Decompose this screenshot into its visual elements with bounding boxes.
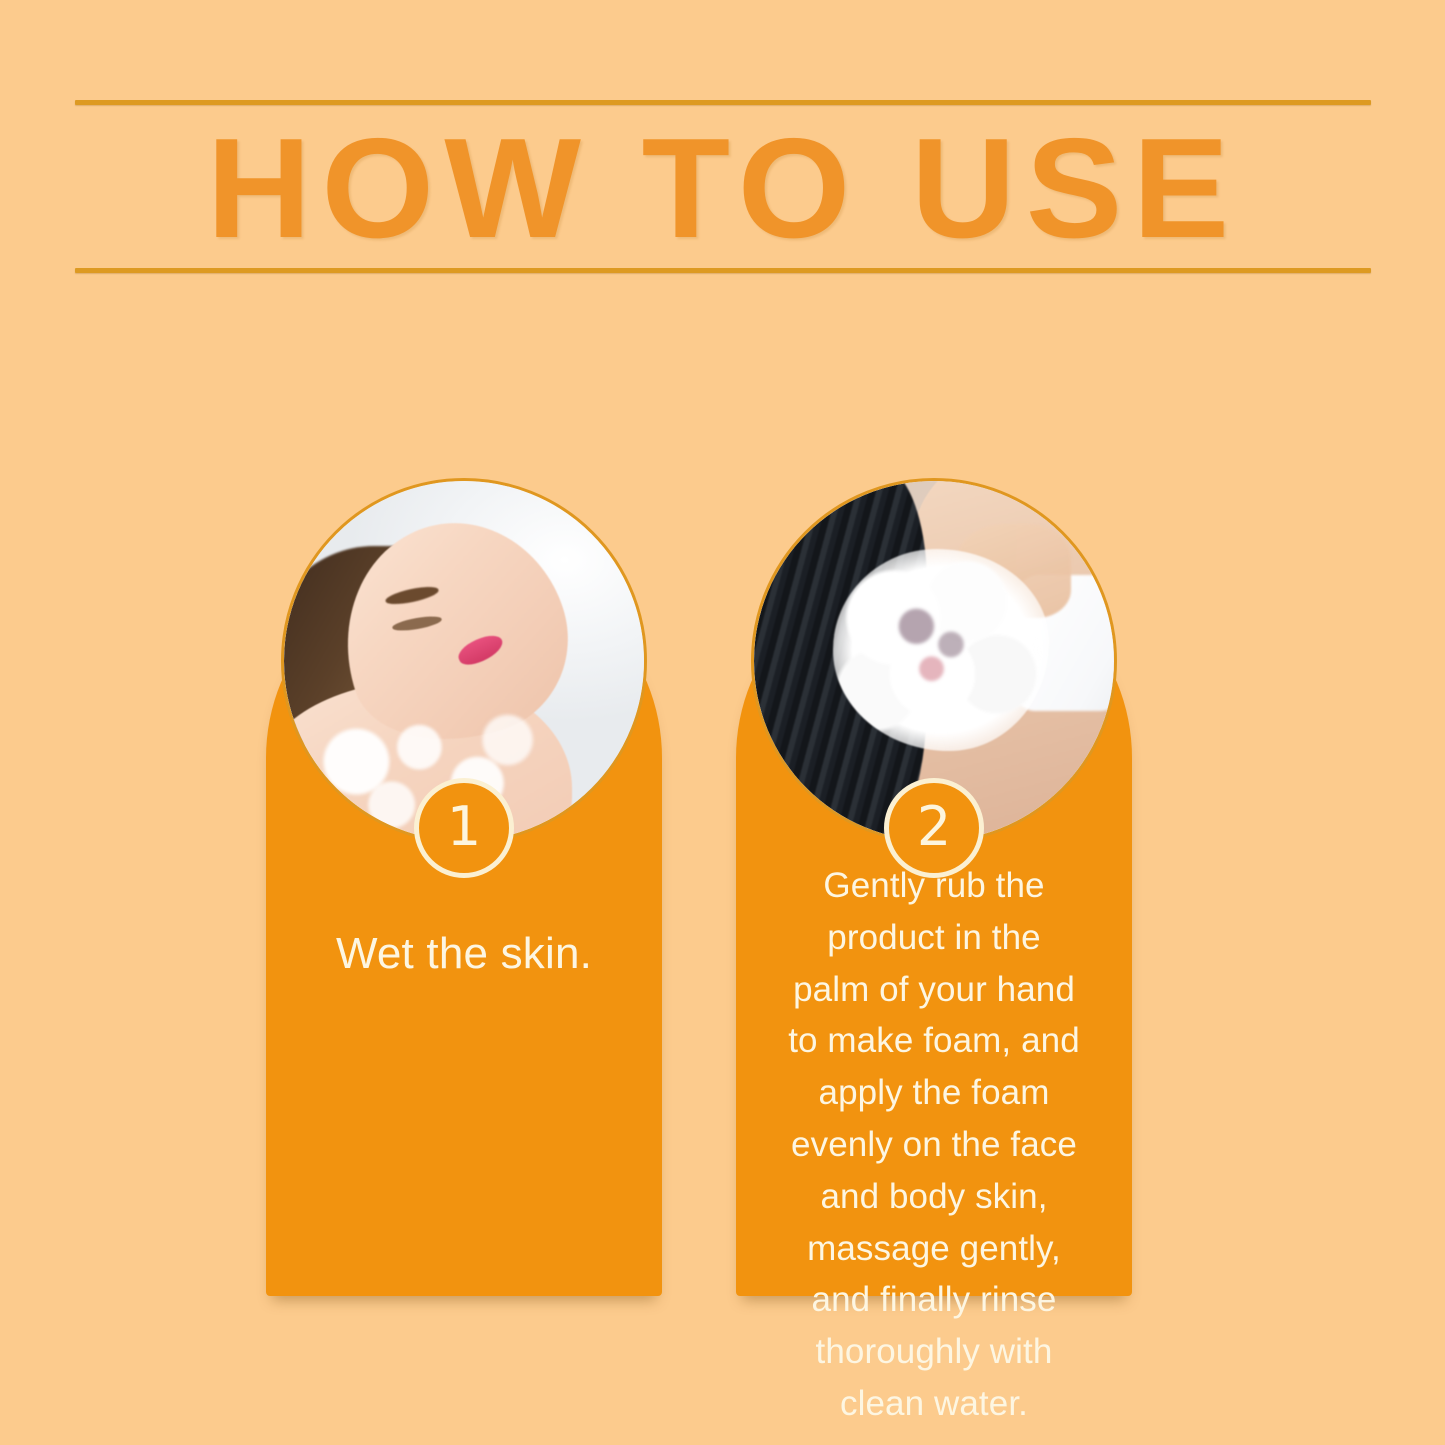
caption-line: to make foam, and	[760, 1015, 1108, 1067]
caption-line: apply the foam	[760, 1067, 1108, 1119]
step-1-number-badge: 1	[414, 778, 514, 878]
step-1-caption: Wet the skin.	[290, 926, 638, 981]
step-2-number: 2	[917, 800, 951, 854]
step-2-caption: Gently rub theproduct in thepalm of your…	[760, 860, 1108, 1430]
caption-line: and finally rinse	[760, 1274, 1108, 1326]
how-to-use-infographic: HOW TO USE 1 Wet the skin.	[0, 0, 1445, 1445]
caption-line: evenly on the face	[760, 1119, 1108, 1171]
caption-line: clean water.	[760, 1378, 1108, 1430]
step-1-number: 1	[447, 800, 481, 854]
caption-line: massage gently,	[760, 1223, 1108, 1275]
photo-detail-loofah-texture	[884, 596, 992, 697]
caption-line: product in the	[760, 912, 1108, 964]
caption-line: thoroughly with	[760, 1326, 1108, 1378]
caption-line: and body skin,	[760, 1171, 1108, 1223]
step-card-2: 2 Gently rub theproduct in thepalm of yo…	[736, 478, 1132, 1296]
step-2-number-badge: 2	[884, 778, 984, 878]
caption-line: palm of your hand	[760, 964, 1108, 1016]
steps-container: 1 Wet the skin. 2 Gently rub thepr	[0, 0, 1445, 1445]
step-card-1: 1 Wet the skin.	[266, 478, 662, 1296]
